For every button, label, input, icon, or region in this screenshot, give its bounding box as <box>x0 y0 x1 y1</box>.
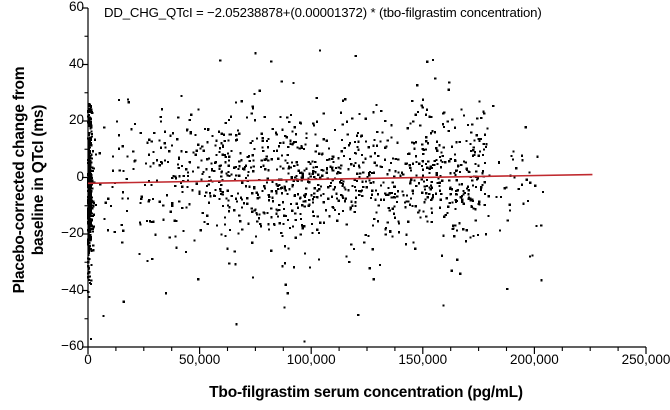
x-tick-label: 50,000 <box>179 352 220 367</box>
x-tick-label: 100,000 <box>287 352 336 367</box>
x-tick-label: 250,000 <box>622 352 670 367</box>
plot-area <box>0 0 670 410</box>
x-axis-tick-labels: 050,000100,000150,000200,000250,000 <box>0 352 670 372</box>
regression-equation-annotation: DD_CHG_QTcI = −2.05238878+(0.00001372) *… <box>104 5 542 20</box>
chart-figure: Placebo-corrected change from baseline i… <box>0 0 670 410</box>
x-axis-title: Tbo-filgrastim serum concentration (pg/m… <box>88 384 644 402</box>
x-tick-label: 150,000 <box>398 352 447 367</box>
scatter-points <box>87 49 544 342</box>
x-tick-label: 0 <box>84 352 92 367</box>
x-tick-label: 200,000 <box>510 352 559 367</box>
axis-ticks <box>82 8 646 354</box>
